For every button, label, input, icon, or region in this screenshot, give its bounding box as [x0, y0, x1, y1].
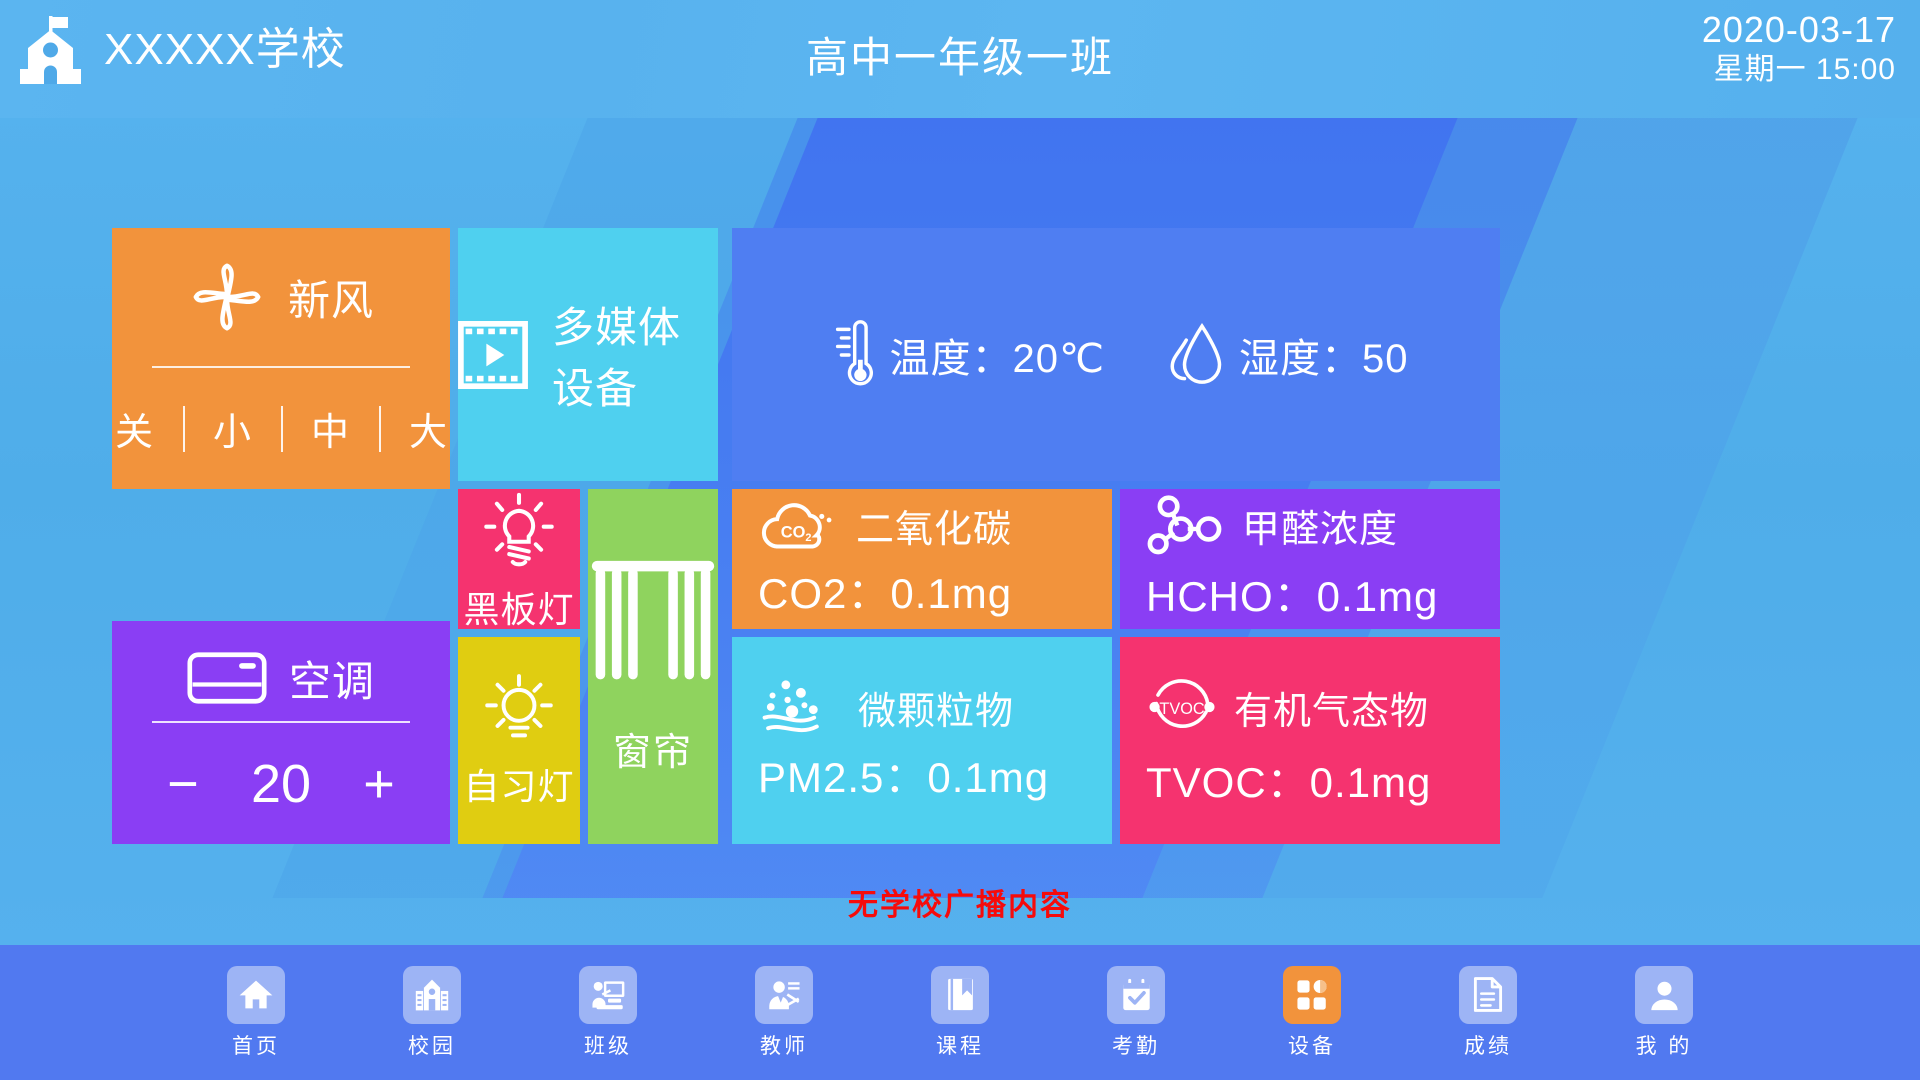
curtain-tile[interactable]: 窗帘 — [588, 489, 718, 844]
fresh-air-tile[interactable]: 新风 关 小 中 大 — [112, 228, 450, 489]
hcho-header: 甲醛浓度 — [1146, 494, 1500, 557]
nav-label-home: 首页 — [232, 1030, 280, 1060]
blackboard-light-tile[interactable]: 黑板灯 — [458, 489, 580, 629]
nav-label-mine: 我 的 — [1636, 1030, 1693, 1060]
film-play-icon — [458, 321, 528, 389]
lightbulb-icon — [482, 671, 556, 750]
multimedia-label: 多媒体设备 — [552, 294, 718, 416]
hcho-title: 甲醛浓度 — [1242, 498, 1398, 553]
fresh-air-modes: 关 小 中 大 — [112, 368, 450, 489]
book-icon — [931, 966, 989, 1024]
pm25-tile[interactable]: 微颗粒物 PM2.5：0.1mg — [732, 637, 1112, 844]
current-weekday-time: 星期一 15:00 — [1702, 52, 1896, 89]
nav-item-teacher[interactable]: 教师 — [696, 966, 872, 1060]
bottom-navigation: 首页 校园 — [0, 945, 1920, 1080]
nav-label-campus: 校园 — [408, 1030, 456, 1060]
home-icon — [227, 966, 285, 1024]
tvoc-orbit-icon: TVOC — [1146, 671, 1218, 743]
lightbulb-icon — [481, 491, 557, 573]
svg-text:TVOC: TVOC — [1159, 700, 1204, 718]
nav-label-attendance: 考勤 — [1112, 1030, 1160, 1060]
nav-item-course[interactable]: 课程 — [872, 966, 1048, 1060]
fan-icon — [188, 258, 266, 336]
temperature-value: 20 — [251, 757, 311, 811]
hcho-value: HCHO：0.1mg — [1146, 563, 1500, 624]
molecule-icon — [1146, 494, 1226, 557]
dashboard-grid: 新风 关 小 中 大 空调 — [112, 228, 1808, 852]
blackboard-light-label: 黑板灯 — [463, 581, 574, 629]
app-screen: XXXXX学校 高中一年级一班 2020-03-17 星期一 15:00 — [0, 0, 1920, 1080]
tvoc-tile[interactable]: TVOC 有机气态物 TVOC：0.1mg — [1120, 637, 1500, 844]
study-light-tile[interactable]: 自习灯 — [458, 637, 580, 844]
temperature-reading: 温度：20℃ — [824, 318, 1105, 392]
app-header: XXXXX学校 高中一年级一班 2020-03-17 星期一 15:00 — [0, 0, 1920, 118]
temperature-decrease-button[interactable]: − — [161, 757, 205, 811]
fresh-air-mode-high[interactable]: 大 — [379, 401, 450, 456]
fresh-air-mode-off[interactable]: 关 — [112, 401, 183, 456]
thermometer-icon — [824, 318, 874, 392]
classroom-icon — [579, 966, 637, 1024]
nav-label-teacher: 教师 — [760, 1030, 808, 1060]
tvoc-header: TVOC 有机气态物 — [1146, 671, 1500, 743]
svg-text:CO: CO — [781, 523, 806, 541]
tvoc-value: TVOC：0.1mg — [1146, 749, 1500, 810]
air-conditioner-label: 空调 — [289, 648, 375, 709]
pm25-value: PM2.5：0.1mg — [758, 744, 1112, 805]
nav-item-grades[interactable]: 成绩 — [1400, 966, 1576, 1060]
nav-label-grades: 成绩 — [1464, 1030, 1512, 1060]
class-title: 高中一年级一班 — [0, 24, 1920, 85]
nav-item-campus[interactable]: 校园 — [344, 966, 520, 1060]
svg-text:2: 2 — [805, 532, 811, 544]
pm25-title: 微颗粒物 — [858, 680, 1014, 735]
tvoc-title: 有机气态物 — [1234, 680, 1429, 735]
temperature-text: 温度：20℃ — [890, 326, 1105, 384]
nav-item-attendance[interactable]: 考勤 — [1048, 966, 1224, 1060]
nav-item-mine[interactable]: 我 的 — [1576, 966, 1752, 1060]
humidity-reading: 湿度：50 — [1167, 320, 1409, 390]
air-conditioner-header: 空调 — [112, 621, 450, 721]
fresh-air-mode-medium[interactable]: 中 — [281, 401, 379, 456]
humidity-text: 湿度：50 — [1239, 326, 1409, 384]
nav-item-home[interactable]: 首页 — [168, 966, 344, 1060]
study-light-label: 自习灯 — [463, 758, 574, 810]
header-datetime: 2020-03-17 星期一 15:00 — [1702, 8, 1896, 89]
current-date: 2020-03-17 — [1702, 8, 1896, 52]
air-conditioner-controls: − 20 + — [112, 723, 450, 844]
co2-header: CO 2 二氧化碳 — [758, 497, 1112, 554]
nav-label-class: 班级 — [584, 1030, 632, 1060]
co2-title: 二氧化碳 — [856, 498, 1012, 553]
environment-strip: 温度：20℃ 湿度：50 — [732, 228, 1500, 481]
nav-label-course: 课程 — [936, 1030, 984, 1060]
air-conditioner-tile[interactable]: 空调 − 20 + — [112, 621, 450, 844]
curtain-label: 窗帘 — [613, 721, 693, 776]
nav-item-devices[interactable]: 设备 — [1224, 966, 1400, 1060]
multimedia-tile[interactable]: 多媒体设备 — [458, 228, 718, 481]
water-drop-icon — [1167, 320, 1223, 390]
air-conditioner-icon — [187, 651, 267, 705]
particles-icon — [758, 676, 842, 738]
temperature-increase-button[interactable]: + — [357, 757, 401, 811]
curtain-icon — [588, 557, 718, 687]
broadcast-message: 无学校广播内容 — [0, 880, 1920, 924]
teacher-id-icon — [755, 966, 813, 1024]
co2-tile[interactable]: CO 2 二氧化碳 CO2：0.1mg — [732, 489, 1112, 629]
pm25-header: 微颗粒物 — [758, 676, 1112, 738]
nav-label-devices: 设备 — [1288, 1030, 1336, 1060]
fresh-air-label: 新风 — [288, 267, 374, 328]
school-icon — [403, 966, 461, 1024]
devices-grid-icon — [1283, 966, 1341, 1024]
nav-item-class[interactable]: 班级 — [520, 966, 696, 1060]
calendar-check-icon — [1107, 966, 1165, 1024]
fresh-air-header: 新风 — [112, 228, 450, 366]
co2-value: CO2：0.1mg — [758, 560, 1112, 621]
document-icon — [1459, 966, 1517, 1024]
co2-cloud-icon: CO 2 — [758, 497, 840, 554]
fresh-air-mode-low[interactable]: 小 — [183, 401, 281, 456]
hcho-tile[interactable]: 甲醛浓度 HCHO：0.1mg — [1120, 489, 1500, 629]
user-icon — [1635, 966, 1693, 1024]
